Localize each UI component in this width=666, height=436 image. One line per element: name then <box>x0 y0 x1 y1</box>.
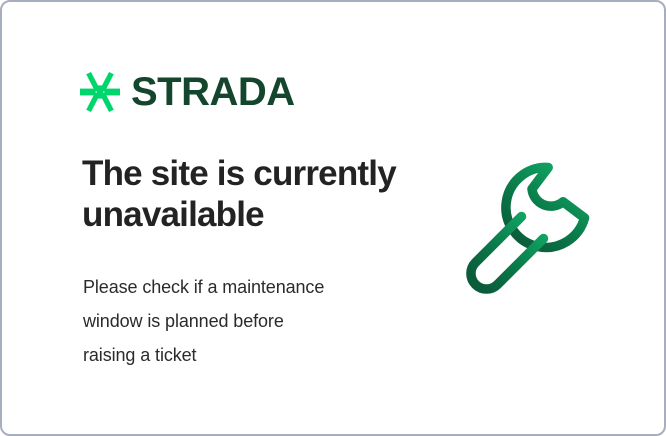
status-description: Please check if a maintenance window is … <box>83 270 403 372</box>
description-line: window is planned before <box>83 304 403 338</box>
brand-logo: STRADA <box>80 72 295 112</box>
strada-asterisk-icon <box>80 72 120 112</box>
brand-wordmark: STRADA <box>131 72 295 112</box>
wrench-icon <box>457 154 617 314</box>
page-title: The site is currently unavailable <box>82 154 412 236</box>
status-card: STRADA The site is currently unavailable… <box>0 0 666 436</box>
description-line: Please check if a maintenance <box>83 270 403 304</box>
description-line: raising a ticket <box>83 338 403 372</box>
